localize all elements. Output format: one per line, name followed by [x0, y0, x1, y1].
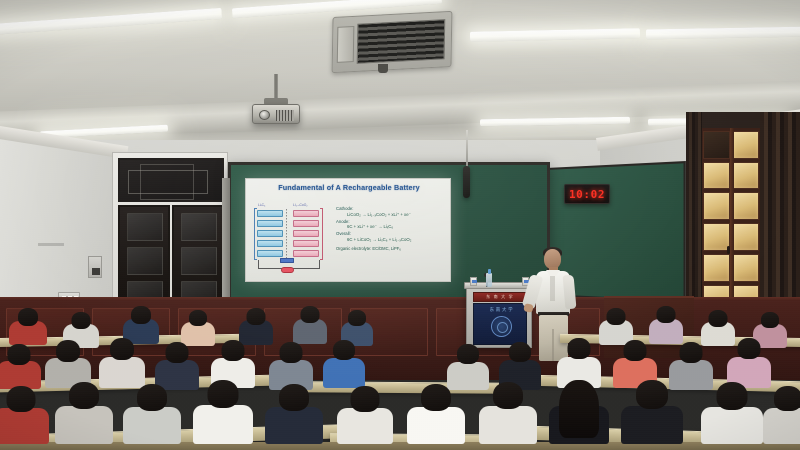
projected-slide: Fundamental of A Rechargeable Battery Li…: [245, 178, 451, 282]
door-glass-pane: [127, 247, 163, 275]
anode-layer: [257, 240, 283, 247]
window-pane: [703, 131, 730, 159]
audience-member: [598, 308, 634, 342]
person-head: [189, 310, 207, 326]
audience-area: [0, 300, 800, 450]
audience-member: [340, 310, 374, 344]
person-head: [166, 342, 189, 363]
equation-head-anode: Anode:: [336, 219, 448, 224]
cathode-layer: [293, 230, 319, 237]
audience-member: [238, 308, 274, 342]
lecture-hall-photo: Fundamental of A Rechargeable Battery Li…: [0, 0, 800, 450]
person-head: [738, 338, 761, 359]
circuit-source-block: [280, 258, 294, 263]
equation-body-overall: 6C + LiCoO₂ → LiₓC₆ + Li₁₋ₓCoO₂: [336, 237, 448, 242]
person-head: [72, 312, 91, 329]
audience-member: [8, 308, 48, 342]
clock-time-display: 10:02: [569, 188, 605, 201]
person-head: [657, 306, 676, 323]
person-head: [56, 340, 80, 362]
equation-body-anode: 6C + xLi⁺ + xe⁻ → LiₓC₆: [336, 224, 448, 229]
ceiling-light-tube: [470, 28, 640, 42]
audience-member: [726, 338, 772, 386]
person-head: [333, 340, 355, 360]
person-torso: [55, 406, 113, 444]
person-head: [131, 306, 151, 324]
projector-lens-icon: [259, 110, 270, 120]
cathode-layer: [293, 240, 319, 247]
person-torso: [323, 358, 365, 388]
door-glass-pane: [181, 213, 217, 241]
projector-pole: [274, 74, 278, 100]
person-torso: [479, 406, 537, 444]
person-torso: [265, 407, 323, 444]
person-head: [348, 310, 366, 326]
person-head: [137, 384, 167, 411]
presenter-head: [544, 249, 561, 269]
person-head: [493, 382, 523, 409]
person-head: [280, 342, 303, 363]
door-transom-window: [118, 158, 224, 202]
slide-title: Fundamental of A Rechargeable Battery: [254, 184, 444, 193]
person-torso: [763, 408, 800, 444]
equation-head-overall: Overall:: [336, 231, 448, 236]
window-pane: [703, 192, 730, 220]
anode-layer: [257, 220, 283, 227]
audience-member: [292, 306, 328, 342]
audience-member-front: [406, 384, 466, 442]
person-torso: [0, 361, 41, 389]
battery-schematic-diagram: LiₓC₆ Li₁₋ₓCoO₂: [253, 203, 327, 275]
person-head: [709, 310, 728, 327]
window-pane: [703, 162, 730, 190]
person-torso: [123, 407, 181, 444]
audience-member-front: [620, 380, 684, 442]
equation-head-cathode: Cathode:: [336, 206, 448, 211]
hvac-vent-side: [337, 26, 355, 63]
person-head: [607, 308, 626, 325]
audience-member-front: [192, 380, 254, 442]
projector-vent: [276, 110, 294, 121]
diagram-label-anode: LiₓC₆: [258, 203, 265, 207]
person-head: [351, 386, 380, 412]
anode-layer: [257, 210, 283, 217]
diagram-bracket-right: [320, 208, 323, 260]
audience-member-front: [54, 382, 114, 442]
person-torso: [701, 407, 763, 444]
person-head: [717, 382, 748, 410]
person-torso: [621, 406, 683, 444]
separator-membrane: [286, 209, 287, 259]
person-head: [69, 382, 99, 409]
audience-member: [44, 340, 92, 386]
door-glass-pane: [127, 213, 163, 241]
hvac-vent-grille: [357, 19, 446, 64]
person-torso: [337, 408, 393, 444]
audience-member: [122, 306, 160, 342]
audience-member-front: [122, 384, 182, 442]
audience-member: [268, 342, 314, 388]
cathode-layer-stack: [293, 210, 319, 258]
window-pane: [733, 223, 760, 251]
audience-member-front: [0, 386, 50, 442]
door-glass-pane: [181, 247, 217, 275]
digital-wall-clock: 10:02: [564, 184, 610, 204]
window-handle[interactable]: [727, 246, 730, 254]
ceiling-light-tube: [646, 27, 800, 40]
audience-member: [0, 344, 42, 386]
audience-member-front: [478, 382, 538, 442]
audience-member-front-longhair: [548, 380, 610, 442]
lectern-device: [470, 277, 477, 286]
slide-footnote-electrolyte: Organic electrolyte: EC/DMC, LiPF₆: [336, 246, 448, 251]
person-head: [301, 306, 320, 323]
hvac-vent-tab: [378, 64, 388, 73]
anode-layer: [257, 250, 283, 257]
anode-layer-stack: [257, 210, 283, 258]
person-long-hair: [559, 380, 599, 438]
person-head: [509, 342, 531, 362]
diagram-label-cathode: Li₁₋ₓCoO₂: [293, 203, 308, 207]
window-pane: [733, 131, 760, 159]
person-head: [457, 344, 479, 364]
person-head: [279, 384, 309, 411]
audience-member: [180, 310, 216, 344]
hvac-vent: [332, 11, 453, 73]
person-head: [568, 338, 591, 359]
person-head: [761, 312, 779, 328]
ceiling-light-tube: [0, 8, 222, 35]
person-head: [208, 380, 239, 408]
person-head: [624, 340, 647, 361]
person-torso: [0, 408, 49, 444]
audience-member: [648, 306, 684, 342]
person-torso: [193, 405, 253, 444]
cathode-layer: [293, 220, 319, 227]
audience-member-front: [336, 386, 394, 442]
wall-marking: [38, 243, 64, 246]
person-head: [7, 386, 36, 412]
person-head: [421, 384, 451, 411]
circuit-load-element: [281, 267, 294, 273]
window-pane: [703, 223, 730, 251]
person-head: [774, 386, 800, 411]
window-pane: [733, 162, 760, 190]
water-bottle: [486, 273, 492, 287]
person-head: [110, 338, 134, 360]
blackboard-edge-left: [222, 178, 230, 302]
anode-layer: [257, 230, 283, 237]
audience-member-front: [762, 386, 800, 442]
audience-member: [98, 338, 146, 386]
audience-member: [556, 338, 602, 386]
person-torso: [407, 407, 465, 444]
audience-member-front: [264, 384, 324, 442]
window-pane: [733, 254, 760, 282]
wall-junction-box: [88, 256, 102, 278]
audience-member: [322, 340, 366, 386]
ceiling-projector: [252, 104, 300, 124]
window-pane: [703, 254, 730, 282]
equation-body-cathode: LiCoO₂ → Li₁₋ₓCoO₂ + xLi⁺ + xe⁻: [336, 212, 448, 217]
window-pane: [733, 192, 760, 220]
person-head: [247, 308, 266, 325]
person-head: [18, 308, 38, 326]
slide-equations: Cathode: LiCoO₂ → Li₁₋ₓCoO₂ + xLi⁺ + xe⁻…: [336, 204, 448, 251]
hanging-microphone-cord: [466, 130, 468, 168]
person-head: [222, 340, 245, 361]
cathode-layer: [293, 250, 319, 257]
person-head: [680, 342, 703, 363]
person-head: [8, 344, 31, 365]
cathode-layer: [293, 210, 319, 217]
audience-member-front: [700, 382, 764, 442]
hanging-microphone: [463, 166, 470, 198]
person-head: [636, 380, 668, 409]
